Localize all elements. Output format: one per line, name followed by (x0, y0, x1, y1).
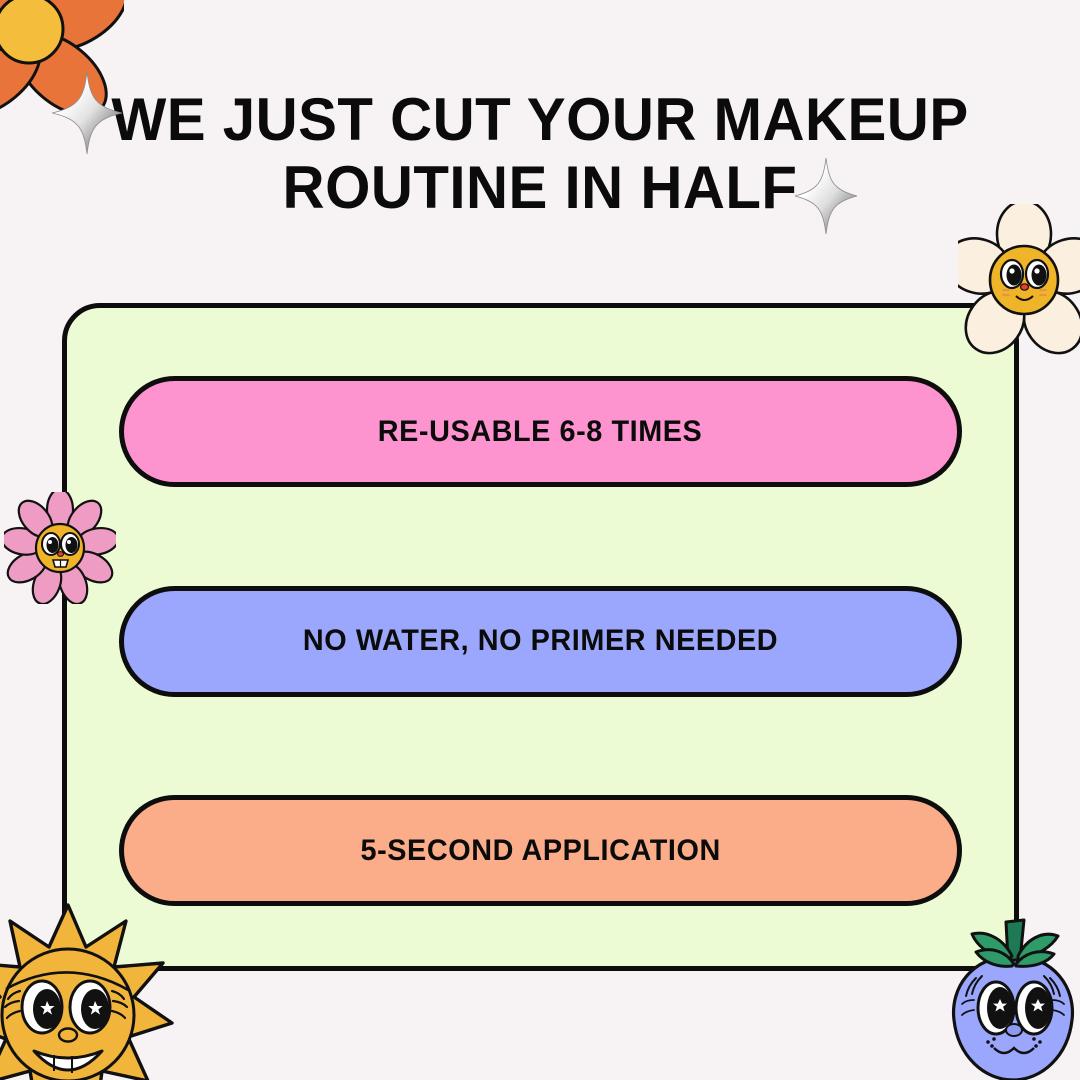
sparkle-star-icon (52, 72, 122, 154)
feature-list: RE-USABLE 6-8 TIMES NO WATER, NO PRIMER … (67, 308, 1014, 966)
feature-pill-reusable[interactable]: RE-USABLE 6-8 TIMES (119, 376, 962, 487)
feature-pill-fast-application[interactable]: 5-SECOND APPLICATION (119, 795, 962, 906)
feature-card: RE-USABLE 6-8 TIMES NO WATER, NO PRIMER … (62, 303, 1019, 971)
page-title: WE JUST CUT YOUR MAKEUP ROUTINE IN HALF (16, 90, 1064, 218)
poster-canvas: WE JUST CUT YOUR MAKEUP ROUTINE IN HALF (0, 0, 1080, 1080)
sparkle-star-icon (795, 158, 857, 234)
feature-pill-label: NO WATER, NO PRIMER NEEDED (303, 624, 778, 658)
feature-pill-no-water[interactable]: NO WATER, NO PRIMER NEEDED (119, 586, 962, 697)
headline-line-2: ROUTINE IN HALF (16, 158, 1064, 218)
feature-pill-label: RE-USABLE 6-8 TIMES (378, 415, 703, 449)
headline-line-1: WE JUST CUT YOUR MAKEUP (16, 90, 1064, 150)
orange-flower-icon (0, 0, 124, 124)
feature-pill-label: 5-SECOND APPLICATION (360, 834, 720, 868)
